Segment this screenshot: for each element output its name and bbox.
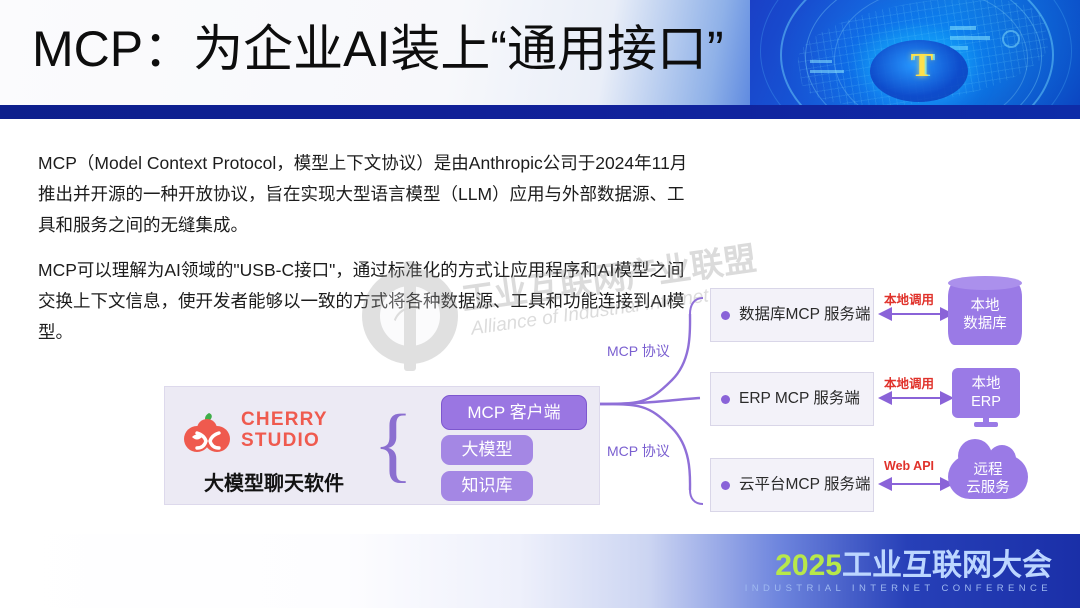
llm-box[interactable]: 大模型 (441, 435, 533, 465)
server-box-cloud[interactable]: 云平台MCP 服务端 (710, 458, 874, 512)
resource-line-1: 本地 (948, 297, 1022, 315)
resource-line-1: 远程 (948, 461, 1028, 479)
server-label: 数据库MCP 服务端 (739, 289, 867, 341)
call-label-database: 本地调用 (884, 289, 934, 308)
server-box-database[interactable]: 数据库MCP 服务端 (710, 288, 874, 342)
mcp-client-box[interactable]: MCP 客户端 (441, 395, 587, 430)
logo-line-1: CHERRY (241, 409, 328, 430)
conference-name-en: INDUSTRIAL INTERNET CONFERENCE (745, 582, 1052, 596)
conference-year: 2025 (775, 549, 842, 582)
conference-name: 2025工业互联网大会 (745, 550, 1052, 582)
protocol-label-top: MCP 协议 (607, 341, 670, 361)
cherry-studio-wordmark: CHERRY STUDIO (241, 409, 328, 451)
mcp-architecture-diagram: CHERRY STUDIO 大模型聊天软件 { MCP 客户端 大模型 知识库 … (0, 0, 1080, 608)
bullet-icon (721, 481, 730, 490)
cherry-studio-logo: CHERRY STUDIO (183, 403, 353, 463)
call-label-cloud: Web API (884, 459, 934, 473)
database-cylinder-icon: 本地 数据库 (948, 283, 1022, 345)
resource-label-database: 本地 数据库 (948, 297, 1022, 333)
resource-label-cloud: 远程 云服务 (948, 461, 1028, 497)
bullet-icon (721, 395, 730, 404)
resource-line-1: 本地 (952, 375, 1020, 393)
conference-name-cn: 工业互联网大会 (842, 549, 1052, 582)
resource-line-2: ERP (952, 393, 1020, 411)
resource-label-erp: 本地 ERP (952, 375, 1020, 411)
server-label: ERP MCP 服务端 (739, 373, 867, 425)
protocol-label-bottom: MCP 协议 (607, 441, 670, 461)
server-label: 云平台MCP 服务端 (739, 459, 867, 511)
logo-line-2: STUDIO (241, 430, 328, 451)
cloud-icon: 远程 云服务 (948, 455, 1028, 499)
server-box-erp[interactable]: ERP MCP 服务端 (710, 372, 874, 426)
cherry-icon (183, 411, 235, 457)
conference-logo: 2025工业互联网大会 INDUSTRIAL INTERNET CONFEREN… (745, 550, 1052, 594)
slide-root: T MCP：为企业AI装上“通用接口” MCP（Model Context Pr… (0, 0, 1080, 608)
bullet-icon (721, 311, 730, 320)
monitor-icon: 本地 ERP (952, 368, 1020, 418)
resource-line-2: 数据库 (948, 315, 1022, 333)
client-panel: CHERRY STUDIO 大模型聊天软件 { MCP 客户端 大模型 知识库 (164, 386, 600, 505)
chat-software-caption: 大模型聊天软件 (179, 467, 369, 496)
resource-line-2: 云服务 (948, 479, 1028, 497)
footer-bar: 2025工业互联网大会 INDUSTRIAL INTERNET CONFEREN… (0, 534, 1080, 608)
call-label-erp: 本地调用 (884, 373, 934, 392)
brace-icon: { (373, 405, 407, 489)
knowledge-base-box[interactable]: 知识库 (441, 471, 533, 501)
